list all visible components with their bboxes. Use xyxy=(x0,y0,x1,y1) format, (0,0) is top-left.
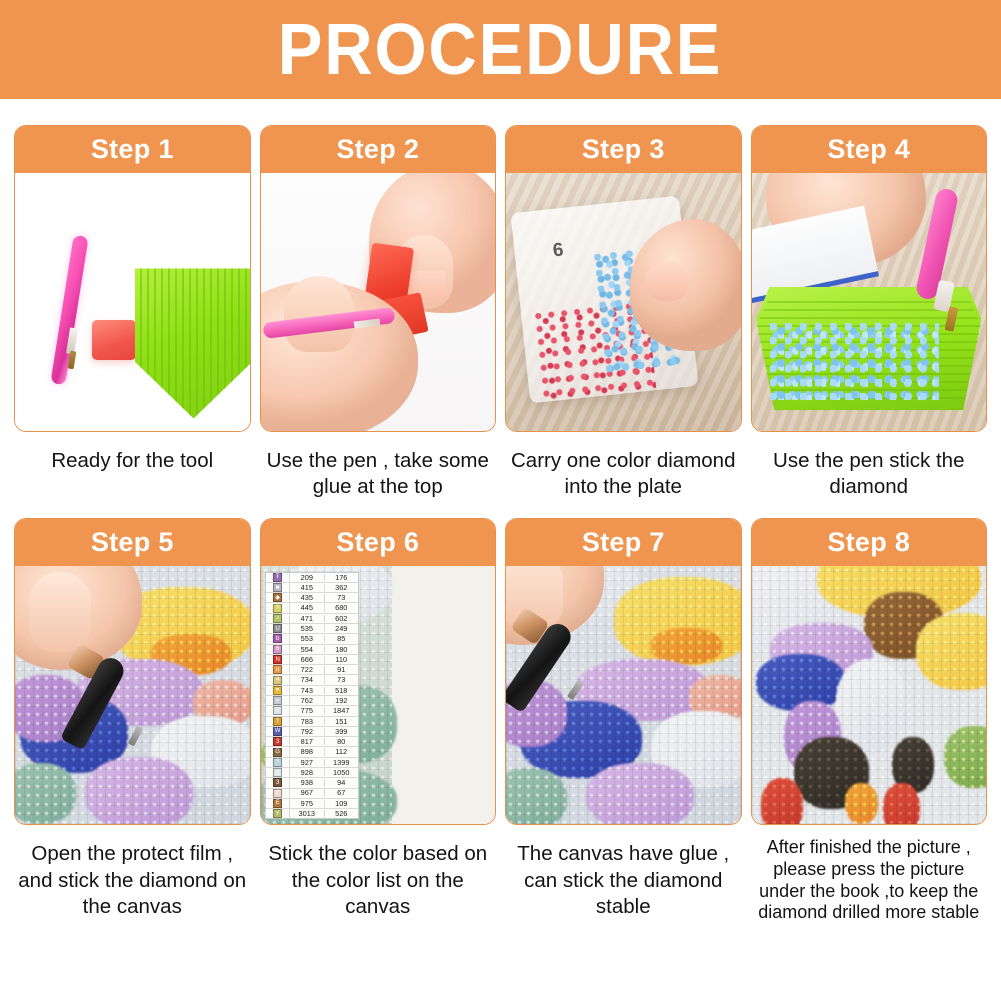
legend-row: 473473 xyxy=(266,675,358,685)
step-3-image: 6 xyxy=(506,173,741,431)
step-card-3: Step 3 6 Carry one color diamond into th… xyxy=(505,125,742,500)
legend-code-cell: 817 xyxy=(290,738,324,745)
legend-symbol-cell: † xyxy=(266,717,290,726)
step-8-card: Step 8 xyxy=(751,518,988,825)
legend-symbol-cell: ● xyxy=(266,686,290,695)
legend-color-chip: † xyxy=(273,717,282,726)
legend-row: 381780 xyxy=(266,737,358,747)
legend-count-cell: 94 xyxy=(325,779,358,786)
legend-color-chip: 6 xyxy=(273,645,282,654)
step-4-header: Step 4 xyxy=(752,126,987,173)
legend-color-chip: 3 xyxy=(273,737,282,746)
legend-color-chip: // xyxy=(273,789,282,798)
legend-count-cell: 192 xyxy=(325,697,358,704)
legend-row: ◆43573 xyxy=(266,593,358,603)
step-3-caption: Carry one color diamond into the plate xyxy=(505,432,742,500)
finished-painting-scene xyxy=(752,566,987,824)
legend-count-cell: 80 xyxy=(325,738,358,745)
color-legend-table: T209176■415362◆43573?445680♪471602U53524… xyxy=(265,572,359,820)
legend-code-cell: 553 xyxy=(290,635,324,642)
legend-row: △9281050 xyxy=(266,768,358,778)
step-2-image xyxy=(261,173,496,431)
legend-code-cell: 762 xyxy=(290,697,324,704)
legend-count-cell: 518 xyxy=(325,687,358,694)
step-card-2: Step 2 Use the pen , xyxy=(260,125,497,500)
legend-row: =762192 xyxy=(266,696,358,706)
legend-row: ıı72291 xyxy=(266,665,358,675)
step-2-card: Step 2 xyxy=(260,125,497,432)
legend-row: G898112 xyxy=(266,747,358,757)
legend-color-chip: ◆ xyxy=(273,593,282,602)
legend-count-cell: 112 xyxy=(325,748,358,755)
legend-color-chip: b xyxy=(273,634,282,643)
legend-code-cell: 743 xyxy=(290,687,324,694)
legend-code-cell: 554 xyxy=(290,646,324,653)
legend-count-cell: 249 xyxy=(325,625,358,632)
canvas-grid-texture xyxy=(752,566,987,824)
step-1-image xyxy=(15,173,250,431)
step-7-header: Step 7 xyxy=(506,519,741,566)
legend-row: W792399 xyxy=(266,727,358,737)
legend-row: ■415362 xyxy=(266,583,358,593)
legend-row: Y3013526 xyxy=(266,809,358,818)
legend-row: U535249 xyxy=(266,624,358,634)
legend-code-cell: 3013 xyxy=(290,810,324,817)
step-5-header: Step 5 xyxy=(15,519,250,566)
legend-row: N666110 xyxy=(266,655,358,665)
step-3-label: Step 3 xyxy=(582,136,665,163)
legend-count-cell: 362 xyxy=(325,584,358,591)
legend-code-cell: 435 xyxy=(290,594,324,601)
legend-code-cell: 975 xyxy=(290,800,324,807)
legend-code-cell: 471 xyxy=(290,615,324,622)
diamond-bag-scene: 6 xyxy=(506,173,741,431)
legend-count-cell: 180 xyxy=(325,646,358,653)
color-chart-scene: T209176■415362◆43573?445680♪471602U53524… xyxy=(261,566,496,824)
page-header-banner: PROCEDURE xyxy=(0,0,1001,99)
legend-symbol-cell: U xyxy=(266,624,290,633)
step-7-card: Step 7 xyxy=(505,518,742,825)
legend-code-cell: 792 xyxy=(290,728,324,735)
legend-color-chip: ♪ xyxy=(273,614,282,623)
page-title: PROCEDURE xyxy=(278,14,723,86)
legend-symbol-cell: b xyxy=(266,634,290,643)
legend-symbol-cell: T xyxy=(266,573,290,582)
step-1-header: Step 1 xyxy=(15,126,250,173)
step-8-label: Step 8 xyxy=(827,529,910,556)
legend-color-chip: ■ xyxy=(273,583,282,592)
legend-code-cell: 783 xyxy=(290,718,324,725)
legend-row: †783151 xyxy=(266,717,358,727)
diamond-canvas-scene xyxy=(506,566,741,824)
legend-count-cell: 67 xyxy=(325,789,358,796)
legend-count-cell: 151 xyxy=(325,718,358,725)
fingernail-icon xyxy=(645,261,689,301)
legend-code-cell: 535 xyxy=(290,625,324,632)
legend-row: ●743518 xyxy=(266,686,358,696)
legend-symbol-cell: ıı xyxy=(266,665,290,674)
legend-color-chip: ıı xyxy=(273,665,282,674)
step-3-card: Step 3 6 xyxy=(505,125,742,432)
steps-grid-row-1: Step 1 Ready for the tool xyxy=(0,99,1001,500)
legend-symbol-cell: △ xyxy=(266,768,290,777)
legend-color-chip: 4 xyxy=(273,676,282,685)
blue-diamonds-icon xyxy=(770,323,939,400)
legend-color-chip: △ xyxy=(273,768,282,777)
finger-icon xyxy=(29,572,91,652)
legend-color-chip: G xyxy=(273,748,282,757)
legend-symbol-cell: ■ xyxy=(266,583,290,592)
legend-count-cell: 176 xyxy=(325,574,358,581)
step-4-caption: Use the pen stick the diamond xyxy=(751,432,988,500)
step-7-caption: The canvas have glue , can stick the dia… xyxy=(505,825,742,920)
legend-code-cell: 415 xyxy=(290,584,324,591)
step-2-caption: Use the pen , take some glue at the top xyxy=(260,432,497,500)
legend-color-chip: ● xyxy=(273,686,282,695)
legend-count-cell: 602 xyxy=(325,615,358,622)
legend-row: ♪471602 xyxy=(266,614,358,624)
step-6-image: T209176■415362◆43573?445680♪471602U53524… xyxy=(261,566,496,824)
legend-code-cell: 927 xyxy=(290,759,324,766)
legend-symbol-cell: ? xyxy=(266,603,290,612)
step-8-caption: After finished the picture , please pres… xyxy=(751,825,988,923)
legend-code-cell: 967 xyxy=(290,789,324,796)
diamond-canvas-scene xyxy=(15,566,250,824)
legend-count-cell: 110 xyxy=(325,656,358,663)
legend-symbol-cell: W xyxy=(266,727,290,736)
legend-row: b55385 xyxy=(266,634,358,644)
step-2-label: Step 2 xyxy=(336,136,419,163)
legend-symbol-cell: // xyxy=(266,706,290,715)
step-2-header: Step 2 xyxy=(261,126,496,173)
legend-count-cell: 1399 xyxy=(325,759,358,766)
legend-count-cell: 1847 xyxy=(325,707,358,714)
pen-over-tray-scene xyxy=(752,173,987,431)
legend-code-cell: 666 xyxy=(290,656,324,663)
step-card-6: Step 6 T20917 xyxy=(260,518,497,923)
step-1-card: Step 1 xyxy=(14,125,251,432)
step-5-card: Step 5 xyxy=(14,518,251,825)
legend-code-cell: 938 xyxy=(290,779,324,786)
legend-color-chip: U xyxy=(273,624,282,633)
legend-row: 6554180 xyxy=(266,645,358,655)
legend-row: 393894 xyxy=(266,778,358,788)
step-1-label: Step 1 xyxy=(91,136,174,163)
legend-symbol-cell: ◆ xyxy=(266,593,290,602)
bag-number-label: 6 xyxy=(552,240,565,263)
step-4-image xyxy=(752,173,987,431)
legend-count-cell: 1050 xyxy=(325,769,358,776)
step-card-4: Step 4 Use the pen st xyxy=(751,125,988,500)
step-5-image xyxy=(15,566,250,824)
legend-count-cell: 526 xyxy=(325,810,358,817)
legend-color-chip: 3 xyxy=(273,778,282,787)
legend-code-cell: 722 xyxy=(290,666,324,673)
step-4-card: Step 4 xyxy=(751,125,988,432)
legend-count-cell: 91 xyxy=(325,666,358,673)
step-5-label: Step 5 xyxy=(91,529,174,556)
legend-code-cell: 898 xyxy=(290,748,324,755)
legend-symbol-cell: 3 xyxy=(266,778,290,787)
legend-row: T209176 xyxy=(266,573,358,583)
legend-symbol-cell: = xyxy=(266,696,290,705)
legend-symbol-cell: // xyxy=(266,789,290,798)
procedure-infographic: PROCEDURE Step 1 xyxy=(0,0,1001,1001)
legend-code-cell: 775 xyxy=(290,707,324,714)
legend-symbol-cell: E xyxy=(266,799,290,808)
step-8-header: Step 8 xyxy=(752,519,987,566)
legend-color-chip: W xyxy=(273,727,282,736)
legend-row: //96767 xyxy=(266,789,358,799)
step-card-5: Step 5 xyxy=(14,518,251,923)
step-5-caption: Open the protect film , and stick the di… xyxy=(14,825,251,920)
legend-code-cell: 928 xyxy=(290,769,324,776)
legend-color-chip: E xyxy=(273,799,282,808)
legend-count-cell: 73 xyxy=(325,594,358,601)
step-7-image xyxy=(506,566,741,824)
legend-count-cell: 85 xyxy=(325,635,358,642)
step-8-image xyxy=(752,566,987,824)
legend-symbol-cell: N xyxy=(266,655,290,664)
legend-color-chip: N xyxy=(273,655,282,664)
step-6-header: Step 6 xyxy=(261,519,496,566)
legend-row: //7751847 xyxy=(266,706,358,716)
legend-color-chip: // xyxy=(273,706,282,715)
legend-row: ?9271399 xyxy=(266,758,358,768)
step-3-header: Step 3 xyxy=(506,126,741,173)
legend-count-cell: 399 xyxy=(325,728,358,735)
legend-symbol-cell: Y xyxy=(266,809,290,818)
legend-color-chip: = xyxy=(273,696,282,705)
step-6-label: Step 6 xyxy=(336,529,419,556)
legend-count-cell: 109 xyxy=(325,800,358,807)
legend-symbol-cell: ? xyxy=(266,758,290,767)
legend-code-cell: 445 xyxy=(290,604,324,611)
pen-metal-tip-icon xyxy=(68,351,77,370)
step-card-1: Step 1 Ready for the tool xyxy=(14,125,251,500)
legend-symbol-cell: G xyxy=(266,747,290,756)
legend-color-chip: T xyxy=(273,573,282,582)
step-6-card: Step 6 T20917 xyxy=(260,518,497,825)
legend-count-cell: 680 xyxy=(325,604,358,611)
tray-grooves-icon xyxy=(135,268,250,418)
legend-color-chip: Y xyxy=(273,809,282,818)
step-7-label: Step 7 xyxy=(582,529,665,556)
legend-color-chip: ? xyxy=(273,604,282,613)
legend-code-cell: 734 xyxy=(290,676,324,683)
step-4-label: Step 4 xyxy=(827,136,910,163)
red-glue-clay-icon xyxy=(92,320,136,360)
legend-symbol-cell: 4 xyxy=(266,675,290,684)
step-card-8: Step 8 xyxy=(751,518,988,923)
steps-grid-row-2: Step 5 xyxy=(0,500,1001,923)
legend-symbol-cell: 3 xyxy=(266,737,290,746)
legend-row: E975109 xyxy=(266,799,358,809)
step-card-7: Step 7 xyxy=(505,518,742,923)
legend-row: ?445680 xyxy=(266,603,358,613)
legend-count-cell: 73 xyxy=(325,676,358,683)
step-1-caption: Ready for the tool xyxy=(14,432,251,474)
legend-code-cell: 209 xyxy=(290,574,324,581)
legend-color-chip: ? xyxy=(273,758,282,767)
tools-on-white-scene xyxy=(15,173,250,431)
legend-symbol-cell: ♪ xyxy=(266,614,290,623)
hands-with-glue-scene xyxy=(261,173,496,431)
legend-symbol-cell: 6 xyxy=(266,645,290,654)
step-6-caption: Stick the color based on the color list … xyxy=(260,825,497,920)
